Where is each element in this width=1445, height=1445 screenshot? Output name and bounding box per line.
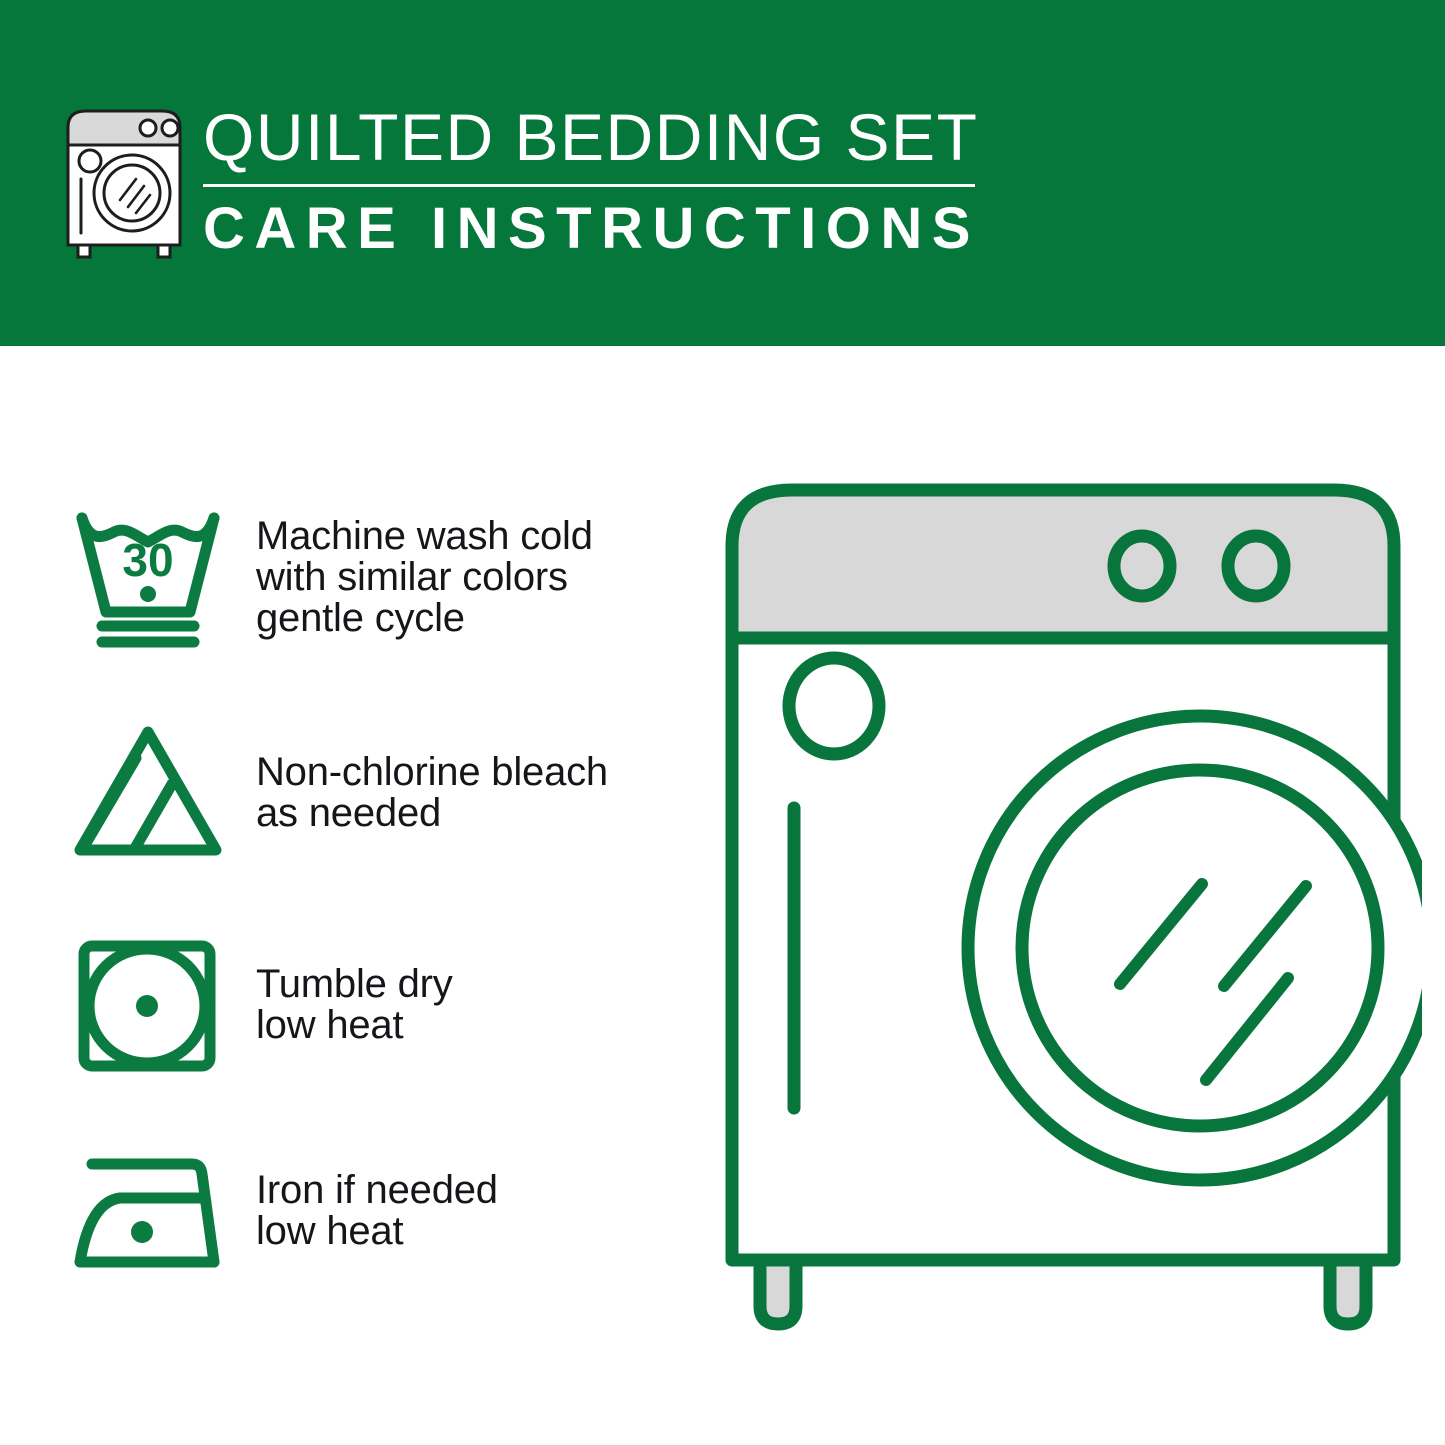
care-instructions-page: QUILTED BEDDING SET CARE INSTRUCTIONS bbox=[0, 0, 1445, 1445]
care-label-wash: Machine wash cold with similar colors ge… bbox=[256, 516, 593, 639]
care-instruction-list: 30 Machine wash cold with similar colors… bbox=[0, 346, 700, 1445]
care-row-bleach: Non-chlorine bleach as needed bbox=[0, 720, 700, 865]
tumble-dry-low-heat-icon bbox=[68, 936, 228, 1081]
wash-temperature-value: 30 bbox=[122, 534, 173, 586]
care-label-tumble-dry: Tumble dry low heat bbox=[256, 964, 453, 1046]
title-divider bbox=[203, 184, 975, 187]
care-row-iron: Iron if needed low heat bbox=[0, 1146, 700, 1281]
header-banner: QUILTED BEDDING SET CARE INSTRUCTIONS bbox=[0, 0, 1445, 346]
wash-tub-30-gentle-icon: 30 bbox=[68, 502, 228, 655]
iron-low-heat-icon bbox=[68, 1146, 228, 1281]
non-chlorine-bleach-triangle-icon bbox=[68, 720, 228, 865]
page-title: QUILTED BEDDING SET bbox=[203, 100, 993, 174]
care-label-bleach: Non-chlorine bleach as needed bbox=[256, 752, 608, 834]
care-row-wash: 30 Machine wash cold with similar colors… bbox=[0, 502, 700, 655]
care-label-iron: Iron if needed low heat bbox=[256, 1170, 498, 1252]
washing-machine-illustration bbox=[722, 478, 1422, 1358]
washing-machine-icon bbox=[62, 105, 192, 260]
header-text-block: QUILTED BEDDING SET CARE INSTRUCTIONS bbox=[203, 100, 993, 262]
care-row-tumble-dry: Tumble dry low heat bbox=[0, 936, 700, 1081]
page-subtitle: CARE INSTRUCTIONS bbox=[203, 196, 993, 262]
